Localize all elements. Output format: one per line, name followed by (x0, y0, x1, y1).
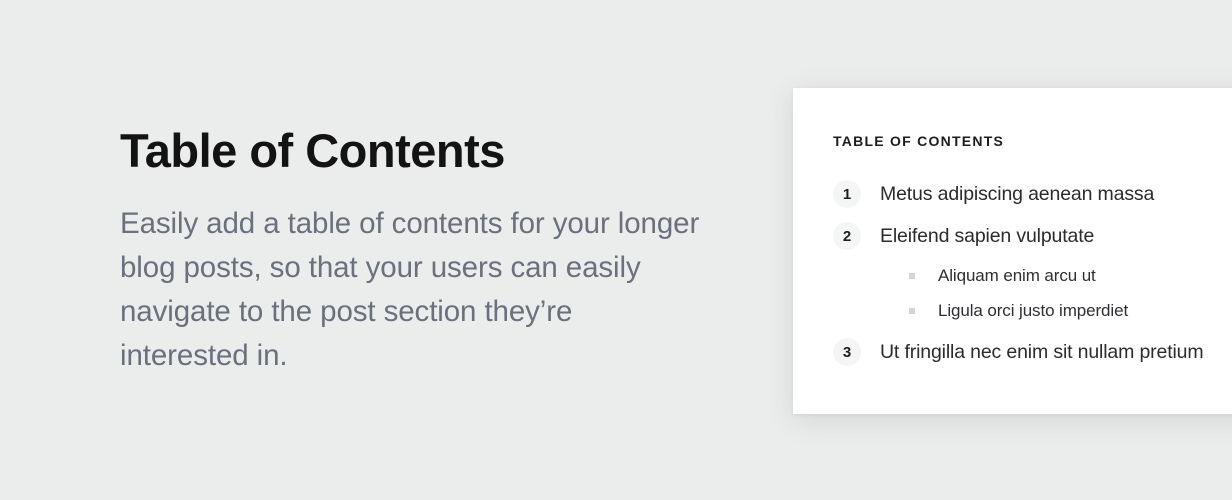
toc-sublist: Aliquam enim arcu ut Ligula orci justo i… (909, 264, 1232, 322)
page-description: Easily add a table of contents for your … (120, 202, 700, 378)
toc-item[interactable]: 1 Metus adipiscing aenean massa (833, 180, 1232, 208)
toc-item[interactable]: 2 Eleifend sapien vulputate (833, 222, 1232, 250)
toc-card-heading: TABLE OF CONTENTS (833, 133, 1232, 149)
toc-subitem[interactable]: Aliquam enim arcu ut (909, 264, 1232, 287)
square-bullet-icon (909, 308, 915, 314)
toc-subitem-label: Aliquam enim arcu ut (938, 264, 1096, 287)
toc-item-number-badge: 1 (833, 180, 861, 208)
toc-subitem-label: Ligula orci justo imperdiet (938, 299, 1128, 322)
table-of-contents-card: TABLE OF CONTENTS 1 Metus adipiscing aen… (793, 88, 1232, 414)
toc-item-number-badge: 3 (833, 338, 861, 366)
page-root: Table of Contents Easily add a table of … (0, 0, 1232, 500)
toc-item-number-badge: 2 (833, 222, 861, 250)
toc-item-label: Ut fringilla nec enim sit nullam pretium (880, 339, 1203, 365)
intro-section: Table of Contents Easily add a table of … (120, 122, 720, 378)
square-bullet-icon (909, 273, 915, 279)
toc-subitem[interactable]: Ligula orci justo imperdiet (909, 299, 1232, 322)
toc-item[interactable]: 3 Ut fringilla nec enim sit nullam preti… (833, 338, 1232, 366)
page-title: Table of Contents (120, 122, 720, 180)
toc-list: 1 Metus adipiscing aenean massa 2 Eleife… (833, 180, 1232, 366)
toc-item-label: Metus adipiscing aenean massa (880, 181, 1154, 207)
toc-item-label: Eleifend sapien vulputate (880, 223, 1094, 249)
